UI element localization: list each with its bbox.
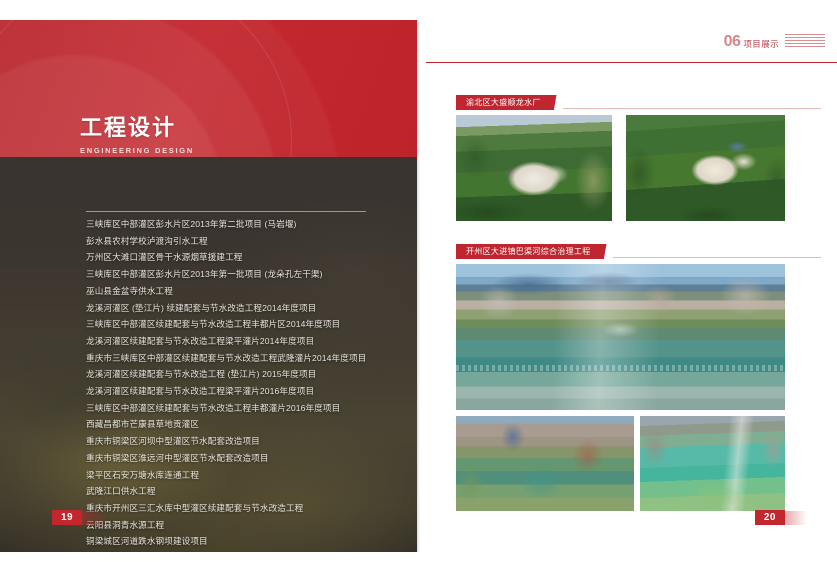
page-number-left: 19: [52, 510, 108, 525]
list-item: 西藏昌都市芒康县草地贡灌区: [86, 416, 406, 433]
caption-slant-decoration: [599, 244, 613, 259]
photo-town-river-aerial: [456, 416, 634, 511]
list-item: 云阳县洞青水源工程: [86, 517, 406, 534]
section-marker: 06 项目展示: [724, 34, 825, 50]
left-page: 工程设计 ENGINEERING DESIGN 三峡库区中部灌区彭水片区2013…: [0, 20, 417, 552]
right-page-header: 06 项目展示: [420, 20, 837, 68]
photo-caption-2-label: 开州区大进镇巴渠河综合治理工程: [456, 244, 599, 259]
photo-caption-1-label: 渝北区大盛顺龙水厂: [456, 95, 549, 110]
caption-rule: [563, 108, 821, 109]
photo-caption-2: 开州区大进镇巴渠河综合治理工程: [456, 244, 821, 259]
section-label: 项目展示: [743, 40, 779, 50]
list-item: 重庆市铜梁区河坝中型灌区节水配套改造项目: [86, 433, 406, 450]
list-divider: [86, 211, 366, 212]
photo-river-arch-bridge: [456, 264, 785, 410]
list-item: 武隆江口供水工程: [86, 483, 406, 500]
photo-waterworks-valley: [456, 115, 612, 221]
list-item: 万州区大滩口灌区骨干水源烟草援建工程: [86, 249, 406, 266]
header-rule: [426, 62, 837, 63]
page-number-left-value: 19: [52, 510, 82, 525]
list-item: 重庆市铜梁区淮远河中型灌区节水配套改造项目: [86, 450, 406, 467]
page-spread: 工程设计 ENGINEERING DESIGN 三峡库区中部灌区彭水片区2013…: [0, 0, 837, 572]
page-number-right-value: 20: [755, 510, 785, 525]
photo-green-river-channel: [640, 416, 785, 511]
page-number-right: 20: [755, 510, 807, 525]
page-number-left-tail: [82, 511, 108, 525]
list-item: 龙溪河灌区续建配套与节水改造工程梁平灌片2016年度项目: [86, 383, 406, 400]
list-item: 重庆市开州区三汇水库中型灌区续建配套与节水改造工程: [86, 500, 406, 517]
list-item: 龙溪河灌区续建配套与节水改造工程 (垫江片) 2015年度项目: [86, 366, 406, 383]
page-title-en: ENGINEERING DESIGN: [80, 146, 194, 155]
list-item: 彭水县农村学校泸渡沟引水工程: [86, 233, 406, 250]
caption-slant-decoration: [549, 95, 563, 110]
list-item: 龙溪河灌区续建配套与节水改造工程梁平灌片2014年度项目: [86, 333, 406, 350]
list-item: 巫山县金盆寺供水工程: [86, 283, 406, 300]
caption-rule: [613, 257, 822, 258]
page-number-right-tail: [785, 511, 807, 525]
photo-waterworks-closeup: [626, 115, 785, 221]
photo-caption-1: 渝北区大盛顺龙水厂: [456, 95, 821, 110]
page-title-cn: 工程设计: [80, 115, 194, 141]
list-item: 三峡库区中部灌区续建配套与节水改造工程丰都灌片2016年度项目: [86, 400, 406, 417]
list-item: 铜梁城区河道跌水钢坝建设项目: [86, 533, 406, 550]
list-item: 龙溪河灌区 (垫江片) 续建配套与节水改造工程2014年度项目: [86, 300, 406, 317]
right-page: 06 项目展示 渝北区大盛顺龙水厂 开州区大进镇巴渠河综合治理工程: [420, 20, 837, 552]
list-item: 三峡库区中部灌区彭水片区2013年第一批项目 (龙朵孔左干渠): [86, 266, 406, 283]
list-item: 重庆市三峡库区中部灌区续建配套与节水改造工程武隆灌片2014年度项目: [86, 350, 406, 367]
list-item: 三峡库区中部灌区彭水片区2013年第二批项目 (马岩堰): [86, 216, 406, 233]
page-title-block: 工程设计 ENGINEERING DESIGN: [80, 115, 194, 155]
left-page-red-banner: [0, 20, 417, 157]
section-number: 06: [724, 34, 741, 50]
project-list: 三峡库区中部灌区彭水片区2013年第二批项目 (马岩堰) 彭水县农村学校泸渡沟引…: [86, 216, 406, 550]
list-item: 梁平区石安万塘水库连通工程: [86, 467, 406, 484]
list-item: 三峡库区中部灌区续建配套与节水改造工程丰都片区2014年度项目: [86, 316, 406, 333]
stripes-decoration-icon: [785, 34, 825, 50]
